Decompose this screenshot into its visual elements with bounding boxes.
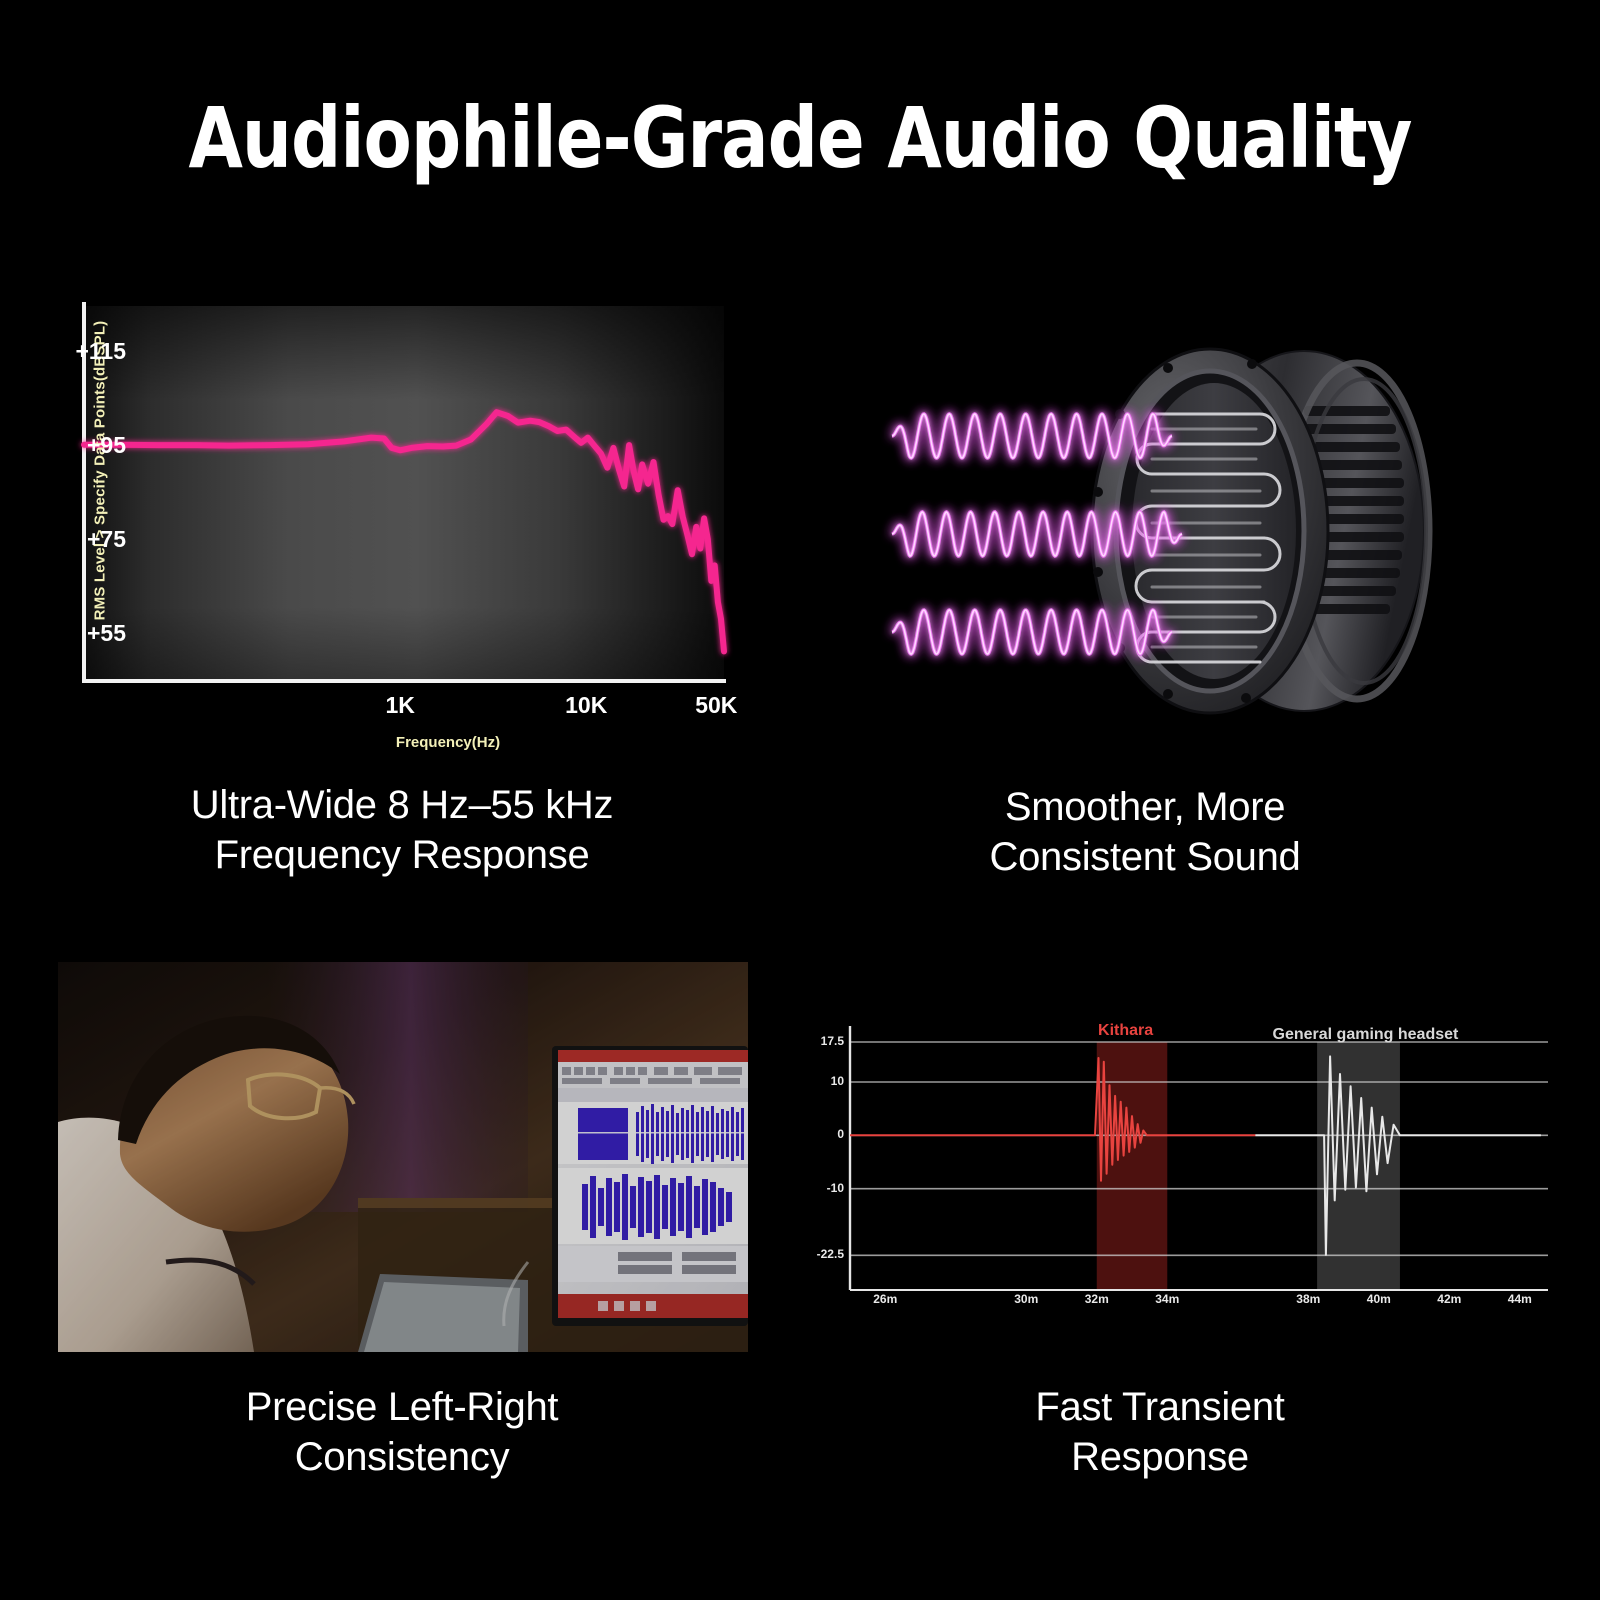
caption-frequency-response: Ultra-Wide 8 Hz–55 kHz Frequency Respons…: [52, 780, 752, 880]
legend-general-gaming-headset: General gaming headset: [1273, 1026, 1459, 1044]
caption-line-2: Response: [810, 1432, 1510, 1482]
y-tick-17-5: 17.5: [800, 1034, 844, 1048]
y-tick-neg10: -10: [800, 1181, 844, 1195]
caption-line-1: Ultra-Wide 8 Hz–55 kHz: [52, 780, 752, 830]
chart-gridlines: [850, 1042, 1548, 1255]
caption-line-2: Frequency Response: [52, 830, 752, 880]
panel-transient-response: Kithara General gaming headset 17.5 10 0…: [800, 1000, 1560, 1330]
caption-line-1: Fast Transient: [810, 1382, 1510, 1432]
panel-studio-photo: [58, 962, 748, 1352]
y-tick-0: 0: [800, 1127, 844, 1141]
chart-x-axis-label: Frequency(Hz): [298, 734, 598, 751]
frequency-response-svg: [58, 296, 748, 696]
y-tick-10: 10: [800, 1074, 844, 1088]
transient-response-chart: Kithara General gaming headset 17.5 10 0…: [800, 1000, 1560, 1330]
panel-frequency-response: RMS Level > Specify Data Points(dBSPL) +…: [58, 296, 748, 766]
y-tick-95: +95: [36, 432, 126, 459]
product-feature-page: Audiophile-Grade Audio Quality: [0, 0, 1600, 1600]
x-tick-10k: 10K: [526, 692, 646, 719]
planar-driver-illustration: [852, 296, 1542, 766]
x-tick-42m: 42m: [1419, 1292, 1479, 1306]
studio-photo-image: [58, 962, 748, 1352]
x-tick-32m: 32m: [1067, 1292, 1127, 1306]
kithara-waveform: [850, 1058, 1255, 1181]
photo-vignette: [58, 962, 748, 1352]
caption-line-2: Consistency: [52, 1432, 752, 1482]
x-tick-34m: 34m: [1137, 1292, 1197, 1306]
frequency-response-chart: RMS Level > Specify Data Points(dBSPL) +…: [58, 296, 748, 766]
x-tick-30m: 30m: [996, 1292, 1056, 1306]
panel-planar-driver: [852, 296, 1542, 766]
page-title: Audiophile-Grade Audio Quality: [56, 96, 1544, 180]
y-tick-75: +75: [36, 526, 126, 553]
y-tick-55: +55: [36, 620, 126, 647]
caption-line-1: Smoother, More: [795, 782, 1495, 832]
caption-line-2: Consistent Sound: [795, 832, 1495, 882]
caption-planar-driver: Smoother, More Consistent Sound: [795, 782, 1495, 882]
caption-transient-response: Fast Transient Response: [810, 1382, 1510, 1482]
caption-studio-photo: Precise Left-Right Consistency: [52, 1382, 752, 1482]
x-tick-26m: 26m: [855, 1292, 915, 1306]
chart-plot-vignette: [84, 306, 724, 682]
caption-line-1: Precise Left-Right: [52, 1382, 752, 1432]
x-tick-44m: 44m: [1490, 1292, 1550, 1306]
x-tick-38m: 38m: [1278, 1292, 1338, 1306]
y-tick-neg22-5: -22.5: [800, 1247, 844, 1261]
x-tick-1k: 1K: [340, 692, 460, 719]
transient-response-svg: [800, 1000, 1560, 1330]
x-tick-50k: 50K: [656, 692, 776, 719]
legend-kithara: Kithara: [1098, 1022, 1153, 1040]
x-tick-40m: 40m: [1349, 1292, 1409, 1306]
y-tick-115: +115: [36, 338, 126, 365]
